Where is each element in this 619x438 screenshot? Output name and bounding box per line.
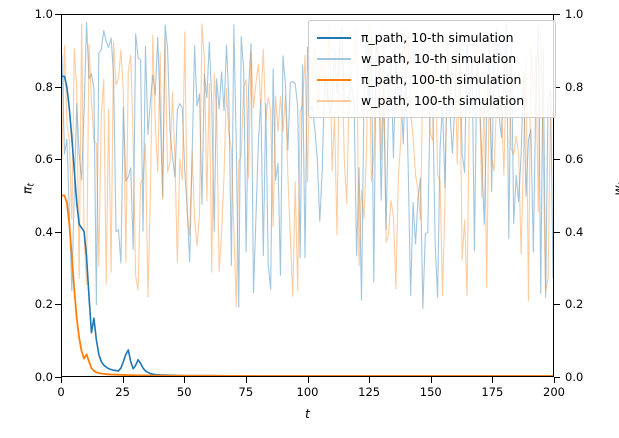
tickmark <box>308 377 309 383</box>
x-tick-label: 50 <box>177 385 192 399</box>
x-tick-label: 175 <box>481 385 503 399</box>
tickmark <box>554 304 560 305</box>
series-pi-path-100 <box>62 196 553 377</box>
y-tick-label-right: 0.8 <box>565 80 583 94</box>
y-axis-right-label: wt <box>610 159 619 219</box>
tickmark <box>123 377 124 383</box>
y-tick-label-right: 0.6 <box>565 152 583 166</box>
legend-swatch <box>317 58 351 60</box>
legend-label: π_path, 10-th simulation <box>361 30 514 45</box>
tickmark <box>554 232 560 233</box>
x-axis-label: t <box>61 406 554 421</box>
legend-entry: π_path, 10-th simulation <box>317 27 547 48</box>
legend-swatch <box>317 37 351 39</box>
legend-label: w_path, 10-th simulation <box>361 51 516 66</box>
x-tick-label: 75 <box>239 385 254 399</box>
legend-swatch <box>317 100 351 102</box>
legend-label: π_path, 100-th simulation <box>361 72 521 87</box>
x-tick-label: 100 <box>297 385 319 399</box>
tickmark <box>431 377 432 383</box>
legend-entry: π_path, 100-th simulation <box>317 69 547 90</box>
legend-swatch <box>317 79 351 81</box>
chart-legend: π_path, 10-th simulationw_path, 10-th si… <box>308 20 556 118</box>
tickmark <box>492 377 493 383</box>
y-tick-label-right: 0.0 <box>565 370 583 384</box>
y-axis-left-label-wrap: πt <box>8 0 30 438</box>
y-tick-label-right: 0.4 <box>565 225 583 239</box>
legend-entry: w_path, 100-th simulation <box>317 90 547 111</box>
y-axis-left-label: πt <box>19 159 36 219</box>
y-tick-label-right: 0.2 <box>565 297 583 311</box>
tickmark <box>554 159 560 160</box>
legend-label: w_path, 100-th simulation <box>361 93 524 108</box>
tickmark <box>369 377 370 383</box>
x-tick-label: 25 <box>115 385 130 399</box>
legend-entry: w_path, 10-th simulation <box>317 48 547 69</box>
y-tick-label-right: 1.0 <box>565 7 583 21</box>
tickmark <box>554 377 555 383</box>
tickmark <box>246 377 247 383</box>
x-tick-label: 200 <box>543 385 565 399</box>
series-pi-path-10 <box>62 76 553 376</box>
x-tick-label: 150 <box>420 385 442 399</box>
tickmark <box>554 14 560 15</box>
tickmark <box>184 377 185 383</box>
x-tick-label: 125 <box>358 385 380 399</box>
chart-figure: 0.00.20.40.60.81.0 0.00.20.40.60.81.0 02… <box>0 0 619 438</box>
tickmark <box>61 377 62 383</box>
x-tick-label: 0 <box>57 385 64 399</box>
